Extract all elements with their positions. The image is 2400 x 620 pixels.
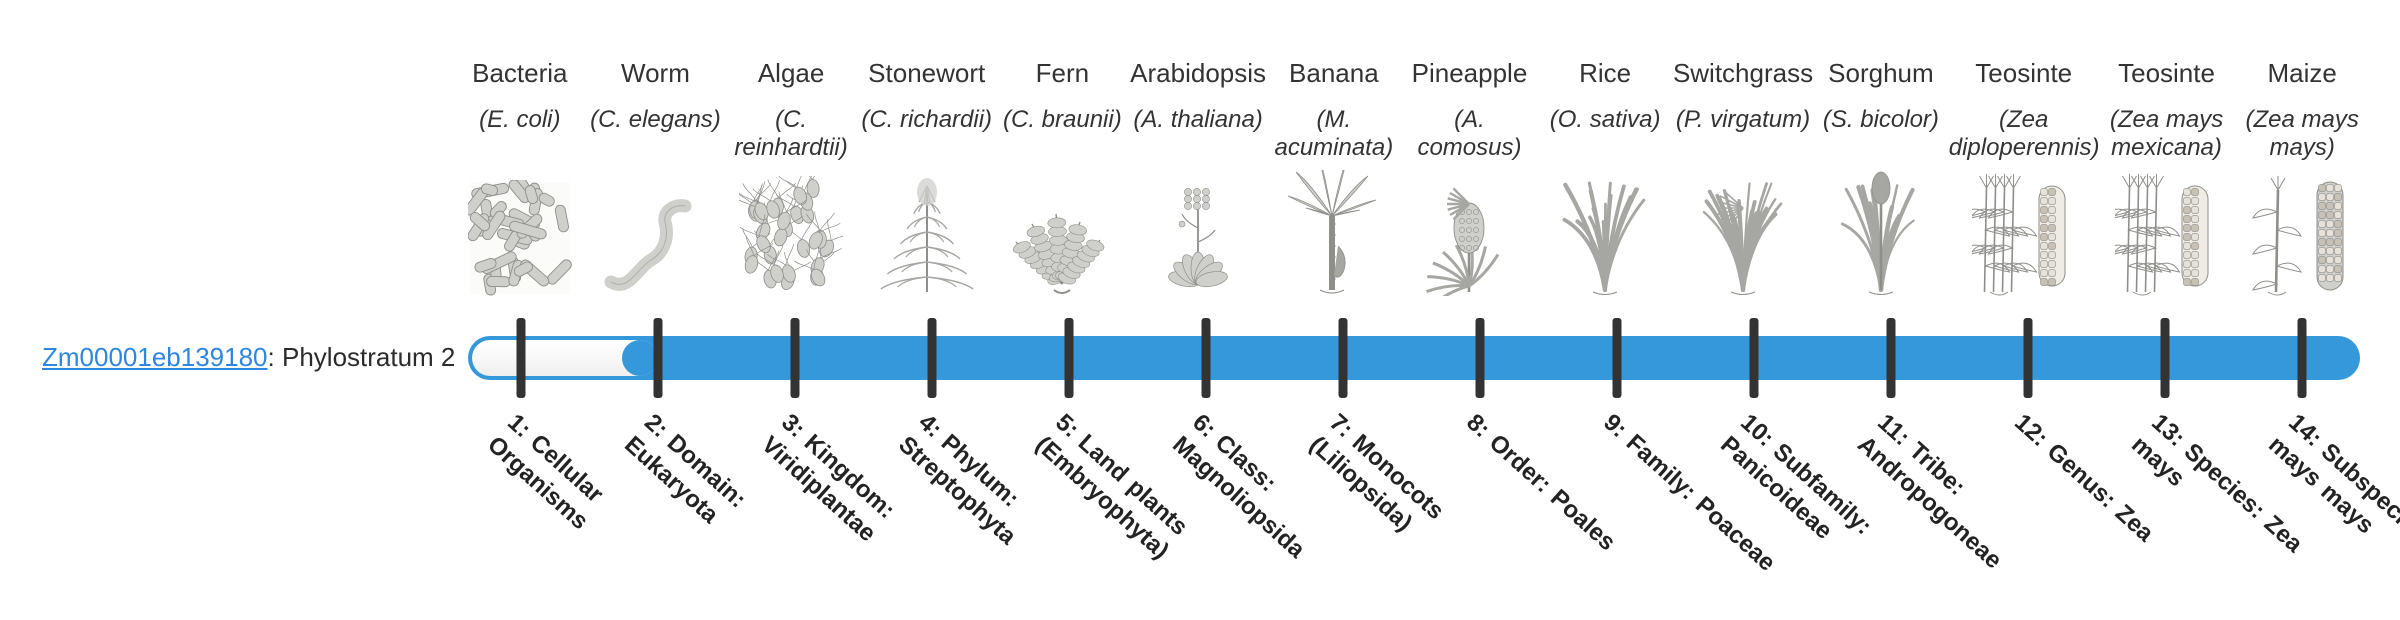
species-common-name: Algae	[758, 58, 825, 88]
species-scientific-name: (C. elegans)	[590, 106, 721, 134]
species-common-name: Worm	[621, 58, 690, 88]
species-column-stonewort-4: Stonewort(C. richardii)	[859, 0, 995, 300]
species-common-name: Stonewort	[868, 58, 985, 88]
rank-number: 12:	[2009, 409, 2053, 452]
species-common-name: Maize	[2268, 58, 2337, 88]
species-common-name: Fern	[1036, 58, 1089, 88]
rank-cell-14: 14: Subspecies: Zea mays mays	[2233, 404, 2370, 580]
species-header-row: Bacteria(E. coli)Worm(C. elegans)Algae(C…	[452, 0, 2370, 300]
species-scientific-name: (Zea diploperennis)	[1949, 106, 2099, 162]
species-column-algae-3: Algae(C. reinhardtii)	[723, 0, 859, 300]
rank-cell-9: 9: Family: Poaceae	[1548, 404, 1685, 580]
species-scientific-name: (O. sativa)	[1550, 106, 1661, 134]
species-column-teosinte-12: Teosinte(Zea diploperennis)	[1949, 0, 2099, 300]
stonewort-illustration	[862, 172, 992, 296]
species-scientific-name: (S. bicolor)	[1823, 106, 1939, 134]
gene-label-separator: :	[268, 342, 282, 372]
species-scientific-name: (P. virgatum)	[1676, 106, 1810, 134]
species-common-name: Pineapple	[1412, 58, 1528, 88]
banana-illustration	[1269, 172, 1399, 296]
species-column-maize-14: Maize(Zea mays mays)	[2234, 0, 2370, 300]
species-column-rice-9: Rice(O. sativa)	[1537, 0, 1673, 300]
species-scientific-name: (Zea mays mays)	[2234, 106, 2370, 162]
arabidopsis-illustration	[1133, 172, 1263, 296]
species-column-fern-5: Fern(C. braunii)	[995, 0, 1131, 300]
species-column-arabidopsis-6: Arabidopsis(A. thaliana)	[1130, 0, 1266, 300]
species-column-sorghum-11: Sorghum(S. bicolor)	[1813, 0, 1949, 300]
species-common-name: Sorghum	[1828, 58, 1934, 88]
species-column-bacteria-1: Bacteria(E. coli)	[452, 0, 588, 300]
fern-illustration	[997, 172, 1127, 296]
rank-cell-2: 2: Domain: Eukaryota	[589, 404, 726, 580]
bacteria-illustration	[455, 172, 585, 296]
species-scientific-name: (A. comosus)	[1402, 106, 1538, 162]
species-scientific-name: (M. acuminata)	[1266, 106, 1402, 162]
species-column-switchgrass-10: Switchgrass(P. virgatum)	[1673, 0, 1813, 300]
teosinte-diploperennis-illustration	[1959, 172, 2089, 296]
species-column-worm-2: Worm(C. elegans)	[588, 0, 724, 300]
rice-illustration	[1540, 172, 1670, 296]
gene-id-link[interactable]: Zm00001eb139180	[42, 342, 268, 372]
maize-illustration	[2237, 172, 2367, 296]
rank-cell-3: 3: Kingdom: Viridiplantae	[726, 404, 863, 580]
rank-cell-12: 12: Genus: Zea	[1959, 404, 2096, 580]
worm-illustration	[590, 172, 720, 296]
species-scientific-name: (C. reinhardtii)	[723, 106, 859, 162]
rank-cell-7: 7: Monocots (Liliopsida)	[1274, 404, 1411, 580]
species-scientific-name: (A. thaliana)	[1133, 106, 1262, 134]
rank-number: 8:	[1461, 409, 1495, 443]
algae-illustration	[726, 172, 856, 296]
rank-cell-1: 1: Cellular Organisms	[452, 404, 589, 580]
rank-cell-13: 13: Species: Zea mays	[2096, 404, 2233, 580]
rank-text: Subspecies: Zea mays mays	[2263, 431, 2400, 586]
rank-cell-5: 5: Land plants (Embryophyta)	[1000, 404, 1137, 580]
rank-cell-6: 6: Class: Magnoliopsida	[1137, 404, 1274, 580]
phylostratum-progress-bar[interactable]	[468, 336, 2360, 380]
species-common-name: Banana	[1289, 58, 1379, 88]
species-column-banana-7: Banana(M. acuminata)	[1266, 0, 1402, 300]
gene-phylostratum-label: Zm00001eb139180: Phylostratum 2	[42, 340, 455, 374]
rank-cell-10: 10: Subfamily: Panicoideae	[1685, 404, 1822, 580]
species-column-teosinte-13: Teosinte(Zea mays mexicana)	[2099, 0, 2235, 300]
taxonomic-rank-row: 1: Cellular Organisms2: Domain: Eukaryot…	[452, 404, 2370, 580]
phylostratum-viewer: Bacteria(E. coli)Worm(C. elegans)Algae(C…	[0, 0, 2400, 580]
rank-cell-4: 4: Phylum: Streptophyta	[863, 404, 1000, 580]
rank-cell-8: 8: Order: Poales	[1411, 404, 1548, 580]
species-common-name: Switchgrass	[1673, 58, 1813, 88]
species-scientific-name: (Zea mays mexicana)	[2099, 106, 2235, 162]
sorghum-illustration	[1816, 172, 1946, 296]
species-common-name: Arabidopsis	[1130, 58, 1266, 88]
progress-bar-thumb[interactable]	[622, 340, 658, 376]
species-scientific-name: (C. braunii)	[1003, 106, 1122, 134]
species-common-name: Bacteria	[472, 58, 567, 88]
species-common-name: Teosinte	[2118, 58, 2215, 88]
species-common-name: Teosinte	[1975, 58, 2072, 88]
species-common-name: Rice	[1579, 58, 1631, 88]
species-scientific-name: (C. richardii)	[861, 106, 992, 134]
rank-cell-11: 11: Tribe: Andropogoneae	[1822, 404, 1959, 580]
switchgrass-illustration	[1678, 172, 1808, 296]
rank-number: 9:	[1598, 409, 1632, 443]
species-scientific-name: (E. coli)	[479, 106, 560, 134]
phylostratum-value: Phylostratum 2	[282, 342, 455, 372]
species-column-pineapple-8: Pineapple(A. comosus)	[1402, 0, 1538, 300]
teosinte-mexicana-illustration	[2102, 172, 2232, 296]
pineapple-illustration	[1404, 172, 1534, 296]
